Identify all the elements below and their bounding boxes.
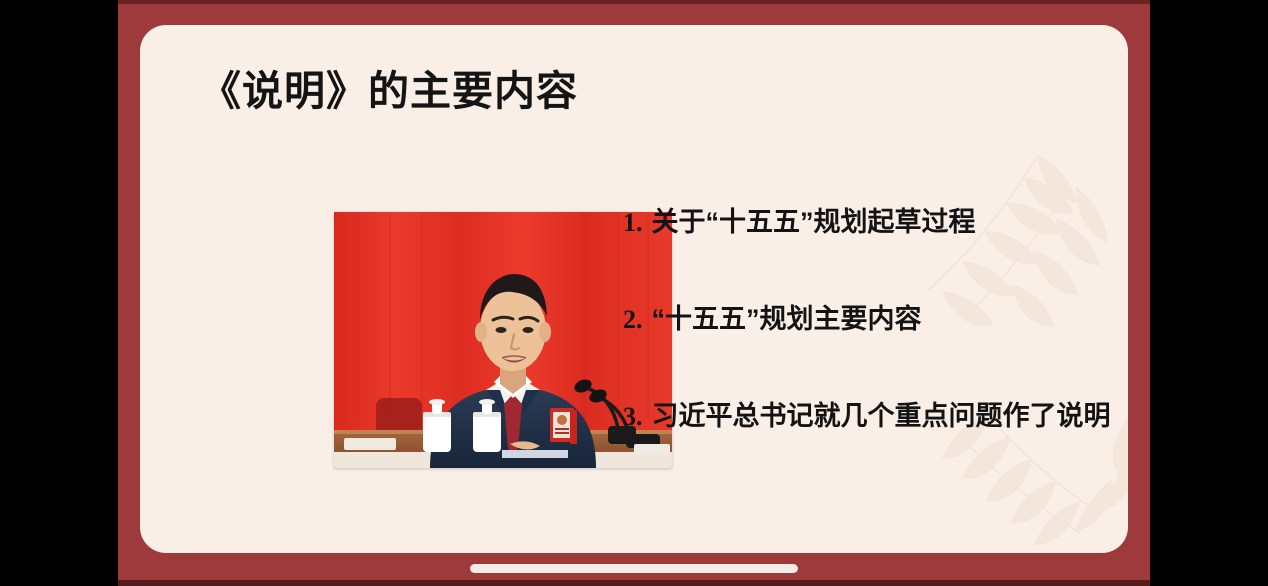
agenda-item: 2. “十五五”规划主要内容 — [623, 300, 1113, 339]
slide-title: 《说明》的主要内容 — [200, 65, 578, 117]
agenda-item-index: 1. — [623, 204, 643, 242]
slide-frame: 《说明》的主要内容 — [118, 0, 1150, 586]
home-indicator-bar[interactable] — [470, 564, 798, 573]
agenda-item-index: 2. — [623, 301, 643, 339]
meeting-photo — [334, 212, 672, 468]
agenda-item: 1. 关于“十五五”规划起草过程 — [623, 203, 1113, 242]
frame-bottom-edge — [118, 580, 1150, 586]
frame-top-edge — [118, 0, 1150, 4]
agenda-item-text: “十五五”规划主要内容 — [652, 300, 922, 338]
agenda-item-text: 关于“十五五”规划起草过程 — [652, 203, 976, 241]
agenda-item: 3. 习近平总书记就几个重点问题作了说明 — [623, 397, 1113, 436]
agenda-item-index: 3. — [623, 398, 643, 436]
slide-card: 《说明》的主要内容 — [140, 25, 1128, 553]
agenda-item-text: 习近平总书记就几个重点问题作了说明 — [652, 397, 1111, 435]
agenda-list: 1. 关于“十五五”规划起草过程 2. “十五五”规划主要内容 3. 习近平总书… — [623, 203, 1113, 436]
slide-viewport: 《说明》的主要内容 — [0, 0, 1268, 586]
